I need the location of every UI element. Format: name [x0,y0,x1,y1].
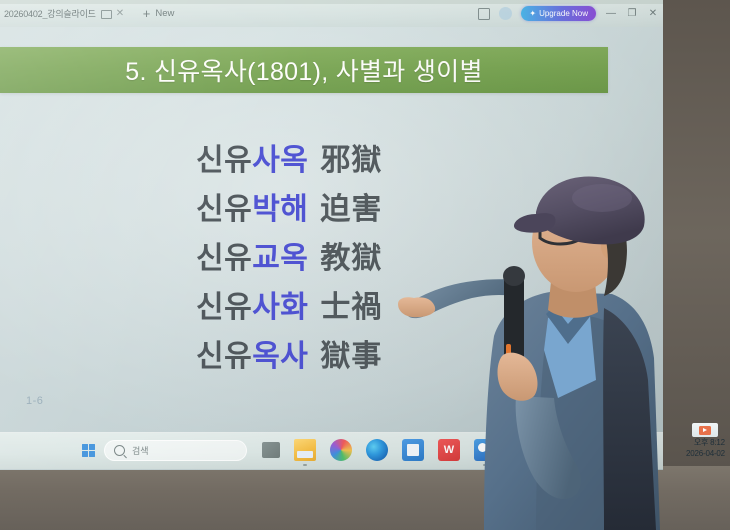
room-wall-right [661,0,730,470]
term-hanja: 獄事 [320,331,382,375]
new-tab-label: New [155,8,174,19]
term-highlight: 옥사 [252,331,308,375]
term-prefix: 신유 [196,184,252,228]
minimize-button[interactable]: — [605,8,617,19]
term-highlight: 사화 [252,282,308,326]
edge-browser-icon[interactable] [366,439,388,461]
list-item: 신유 사화 士禍 [196,282,382,326]
media-play-icon [699,426,711,435]
system-tray-clock[interactable]: 오후 8:12 2026-04-02 [686,437,725,459]
slide-title: 5. 신유옥사(1801), 사별과 생이별 [125,52,483,88]
term-prefix: 신유 [196,135,252,179]
term-hanja: 邪獄 [320,135,382,179]
term-highlight: 박해 [252,184,308,228]
upgrade-now-label: Upgrade Now [539,9,588,18]
screenshot-root: 20260402_강의슬라이드 ✕ + New ✦ Upgrade Now — … [0,0,730,530]
plus-icon: + [143,9,151,19]
search-input[interactable]: 검색 [104,440,247,461]
profile-avatar-icon[interactable] [499,7,512,20]
cast-icon[interactable] [101,9,111,19]
term-prefix: 신유 [196,233,252,277]
term-prefix: 신유 [196,331,252,375]
windows-start-icon[interactable] [82,444,95,457]
panel-icon[interactable] [478,8,490,20]
task-view-icon[interactable] [262,442,280,458]
list-item: 신유 박해 迫害 [196,184,382,228]
list-item: 신유 교옥 教獄 [196,233,382,277]
wps-office-icon[interactable]: W [438,439,460,461]
presentation-slide: 5. 신유옥사(1801), 사별과 생이별 신유 사옥 邪獄 신유 박해 迫害… [0,27,663,432]
file-explorer-icon[interactable] [294,439,316,461]
window-close-button[interactable]: ✕ [647,8,659,19]
windows-taskbar: 검색 W [0,432,663,469]
slide-title-banner: 5. 신유옥사(1801), 사별과 생이별 [0,47,608,93]
taskbar-app-icons: W [262,439,496,461]
browser-tab-bar: 20260402_강의슬라이드 ✕ + New ✦ Upgrade Now — … [0,0,663,27]
upgrade-now-button[interactable]: ✦ Upgrade Now [521,6,596,21]
term-highlight: 사옥 [252,135,308,179]
microsoft-store-icon[interactable] [402,439,424,461]
mouse-pointer [425,296,436,311]
search-placeholder: 검색 [132,444,149,457]
close-icon[interactable]: ✕ [116,9,126,19]
list-item: 신유 옥사 獄事 [196,331,382,375]
projection-screen: 20260402_강의슬라이드 ✕ + New ✦ Upgrade Now — … [0,0,663,470]
media-chip[interactable] [692,423,718,437]
outlook-icon[interactable] [474,439,496,461]
room-wall-bottom [0,466,730,530]
maximize-button[interactable]: ❐ [626,8,638,19]
list-item: 신유 사옥 邪獄 [196,135,382,179]
new-tab-button[interactable]: + New [143,8,175,19]
slide-page-number: 1-6 [26,395,43,407]
browser-window-controls: ✦ Upgrade Now — ❐ ✕ [478,0,659,27]
term-hanja: 教獄 [320,233,382,277]
tray-time: 오후 8:12 [686,437,725,448]
search-icon [114,445,125,456]
browser-tab-active[interactable]: 20260402_강의슬라이드 ✕ [2,3,131,25]
term-hanja: 迫害 [320,184,382,228]
term-highlight: 교옥 [252,233,308,277]
term-prefix: 신유 [196,282,252,326]
photos-icon[interactable] [330,439,352,461]
slide-term-list: 신유 사옥 邪獄 신유 박해 迫害 신유 교옥 教獄 신유 사화 [196,135,382,375]
term-hanja: 士禍 [320,282,382,326]
tray-date: 2026-04-02 [686,448,725,459]
sparkle-icon: ✦ [529,9,536,18]
browser-tab-title: 20260402_강의슬라이드 [4,7,96,20]
